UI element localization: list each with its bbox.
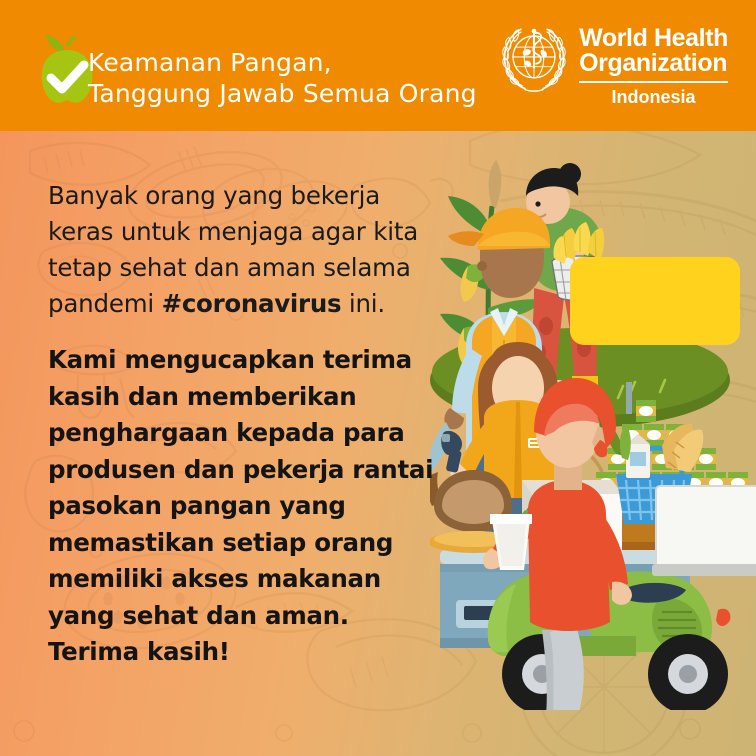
rear-cargo-box bbox=[652, 486, 756, 576]
apple-leaf bbox=[46, 35, 64, 52]
who-line-1: World Health bbox=[579, 26, 728, 51]
page-title: Keamanan Pangan, Tanggung Jawab Semua Or… bbox=[88, 47, 477, 109]
message-block: Banyak orang yang bekerja keras untuk me… bbox=[48, 178, 438, 671]
who-wordmark: World Health Organization Indonesia bbox=[579, 22, 728, 107]
food-supply-chain-illustration bbox=[430, 150, 756, 710]
paragraph-thanks: Kami mengucapkan terima kasih dan member… bbox=[48, 342, 438, 671]
hair-bun bbox=[559, 163, 581, 185]
poster: Banyak orang yang bekerja keras untuk me… bbox=[0, 0, 756, 756]
paragraph-intro: Banyak orang yang bekerja keras untuk me… bbox=[48, 178, 438, 322]
sign-post bbox=[626, 382, 632, 414]
who-divider bbox=[579, 81, 728, 83]
hashtag-coronavirus: #coronavirus bbox=[162, 289, 342, 318]
who-emblem-icon bbox=[499, 22, 569, 96]
apple-stem bbox=[67, 37, 76, 46]
paragraph-intro-after: ini. bbox=[341, 289, 385, 318]
eye bbox=[535, 201, 540, 206]
header-bar: Keamanan Pangan, Tanggung Jawab Semua Or… bbox=[0, 0, 756, 131]
who-line-2: Organization bbox=[579, 51, 728, 76]
who-logo: World Health Organization Indonesia bbox=[499, 22, 728, 107]
who-country-label: Indonesia bbox=[579, 87, 728, 107]
